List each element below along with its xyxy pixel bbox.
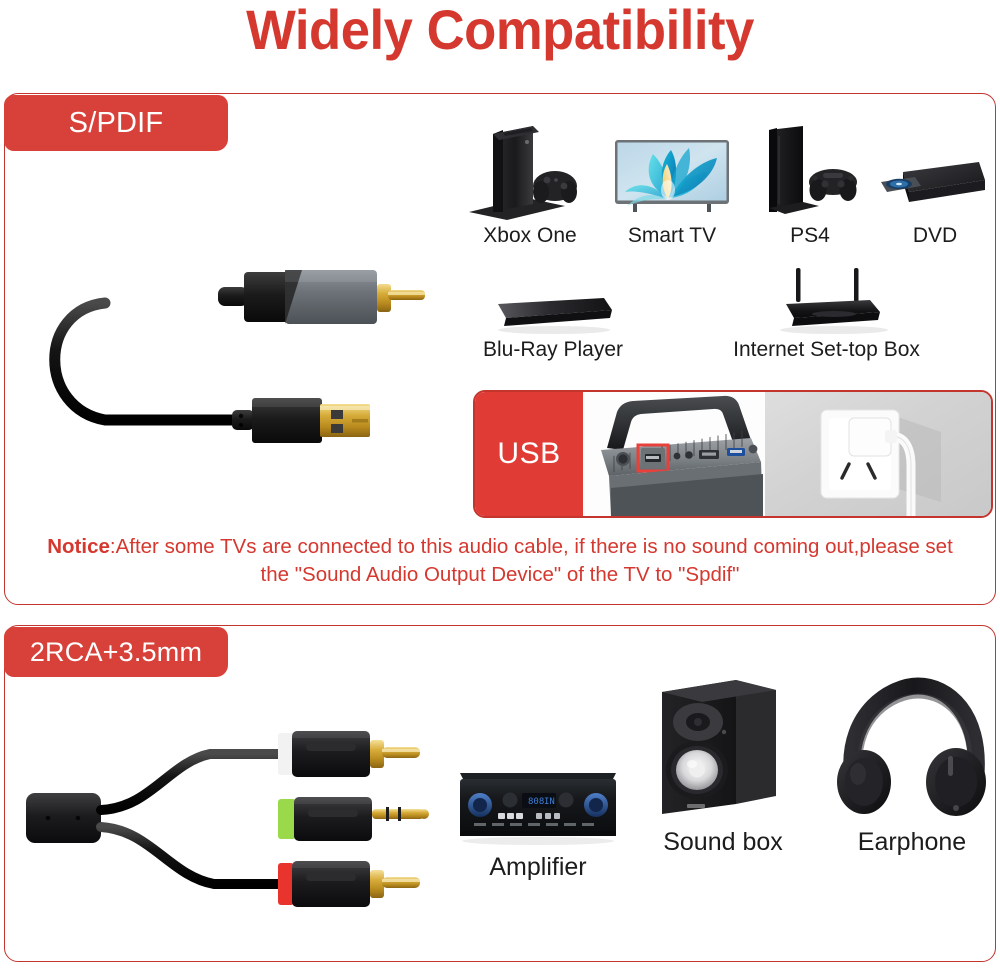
bluray-player-icon [462, 288, 644, 336]
page-title: Widely Compatibility [30, 0, 970, 62]
smart-tv-icon [607, 120, 737, 222]
svg-text:IN: IN [544, 797, 555, 807]
notice-text: Notice:After some TVs are connected to t… [40, 533, 960, 589]
device-label: PS4 [745, 224, 875, 248]
device-amplifier: 808 IN [452, 755, 624, 882]
usb-compatibility-strip: USB [473, 390, 993, 518]
headphones-icon [830, 678, 994, 822]
device-sound-box: Sound box [640, 672, 806, 857]
infographic-page: Widely Compatibility S/PDIF [0, 0, 1000, 968]
device-smart-tv: Smart TV [607, 120, 737, 248]
section-badge-rca-label: 2RCA+3.5mm [30, 637, 202, 668]
av-amplifier-icon: 808 IN [452, 755, 624, 847]
notice-lead: Notice [47, 535, 110, 558]
rca-plug-red [278, 861, 420, 907]
device-label: DVD [875, 224, 995, 248]
device-bluray-player: Blu-Ray Player [462, 288, 644, 362]
usb-port-highlight [638, 445, 668, 471]
usb-badge-label: USB [475, 392, 583, 516]
notice-body: After some TVs are connected to this aud… [116, 535, 953, 586]
section-badge-spdif: S/PDIF [4, 95, 228, 151]
rca-plug-white [278, 731, 420, 777]
device-xbox-one: Xbox One [455, 120, 605, 248]
device-label: Smart TV [607, 224, 737, 248]
device-label: Sound box [640, 828, 806, 857]
rca-splitter-cable-image [0, 700, 460, 925]
device-label: Amplifier [452, 853, 624, 882]
wall-outlet-photo [765, 392, 991, 516]
aux-3.5mm-plug-green [278, 797, 429, 841]
device-label: Blu-Ray Player [462, 338, 644, 362]
device-label: Xbox One [455, 224, 605, 248]
spdif-cable-image [0, 258, 455, 458]
section-badge-rca: 2RCA+3.5mm [4, 627, 228, 677]
device-set-top-box: Internet Set-top Box [714, 268, 939, 362]
dvd-player-icon [875, 120, 995, 222]
device-ps4: PS4 [745, 120, 875, 248]
studio-speaker-icon [640, 672, 806, 822]
device-label: Earphone [830, 828, 994, 857]
section-badge-spdif-label: S/PDIF [69, 107, 164, 140]
svg-text:808: 808 [528, 797, 544, 807]
device-dvd-player: DVD [875, 120, 995, 248]
playstation-console-icon [745, 120, 875, 222]
device-earphone: Earphone [830, 678, 994, 857]
usb-a-plug [232, 398, 370, 443]
device-label: Internet Set-top Box [714, 338, 939, 362]
rca-coaxial-plug [244, 270, 425, 324]
set-top-box-icon [714, 268, 939, 336]
power-station-photo [583, 392, 765, 516]
xbox-console-icon [455, 120, 605, 222]
